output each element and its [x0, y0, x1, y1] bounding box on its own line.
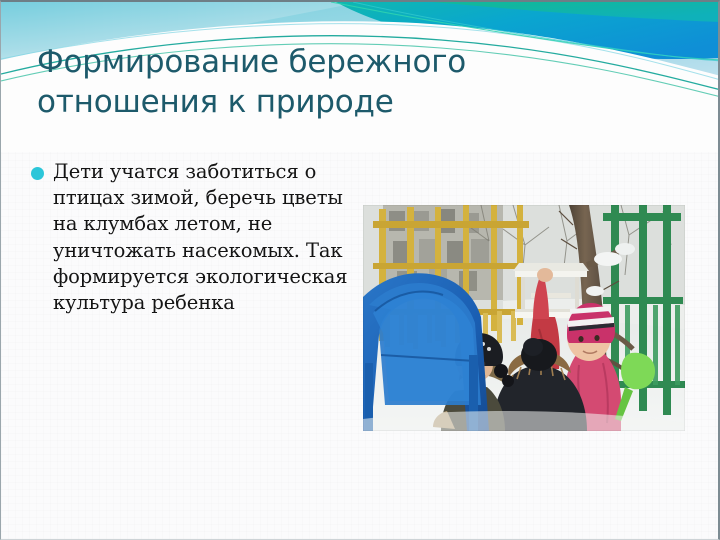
bullet-text: Дети учатся заботиться о птицах зимой, б…: [53, 159, 349, 316]
body-content: Дети учатся заботиться о птицах зимой, б…: [31, 159, 349, 316]
list-item: Дети учатся заботиться о птицах зимой, б…: [31, 159, 349, 316]
slide-canvas: Формирование бережного отношения к приро…: [0, 0, 720, 540]
page-title: Формирование бережного отношения к приро…: [37, 42, 637, 123]
bullet-dot-icon: [31, 167, 44, 180]
slide-photo: [363, 205, 685, 431]
